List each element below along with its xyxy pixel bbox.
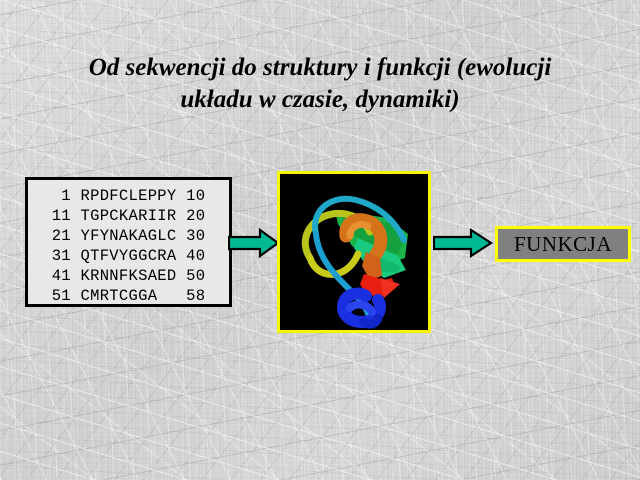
sequence-row: 21 YFYNAKAGLC 30: [28, 226, 229, 246]
presentation-slide: Od sekwencji do struktury i funkcji (ewo…: [0, 0, 640, 480]
slide-title-line-1: Od sekwencji do struktury i funkcji (ewo…: [0, 52, 640, 84]
sequence-row: 51 CMRTCGGA 58: [28, 286, 229, 306]
slide-title: Od sekwencji do struktury i funkcji (ewo…: [0, 52, 640, 116]
protein-sequence-panel: 1 RPDFCLEPPY 10 11 TGPCKARIIR 20 21 YFYN…: [25, 177, 232, 307]
protein-ribbon-diagram: [280, 174, 428, 330]
function-label: FUNKCJA: [514, 232, 612, 257]
sequence-row: 41 KRNNFKSAED 50: [28, 266, 229, 286]
function-panel: FUNKCJA: [495, 226, 631, 262]
protein-structure-image: [277, 171, 431, 333]
arrow-structure-to-function-icon: [433, 228, 493, 258]
sequence-row: 31 QTFVYGGCRA 40: [28, 246, 229, 266]
slide-title-line-2: układu w czasie, dynamiki): [0, 84, 640, 116]
arrow-sequence-to-structure-icon: [228, 228, 280, 258]
sequence-row: 1 RPDFCLEPPY 10: [28, 186, 229, 206]
sequence-row: 11 TGPCKARIIR 20: [28, 206, 229, 226]
